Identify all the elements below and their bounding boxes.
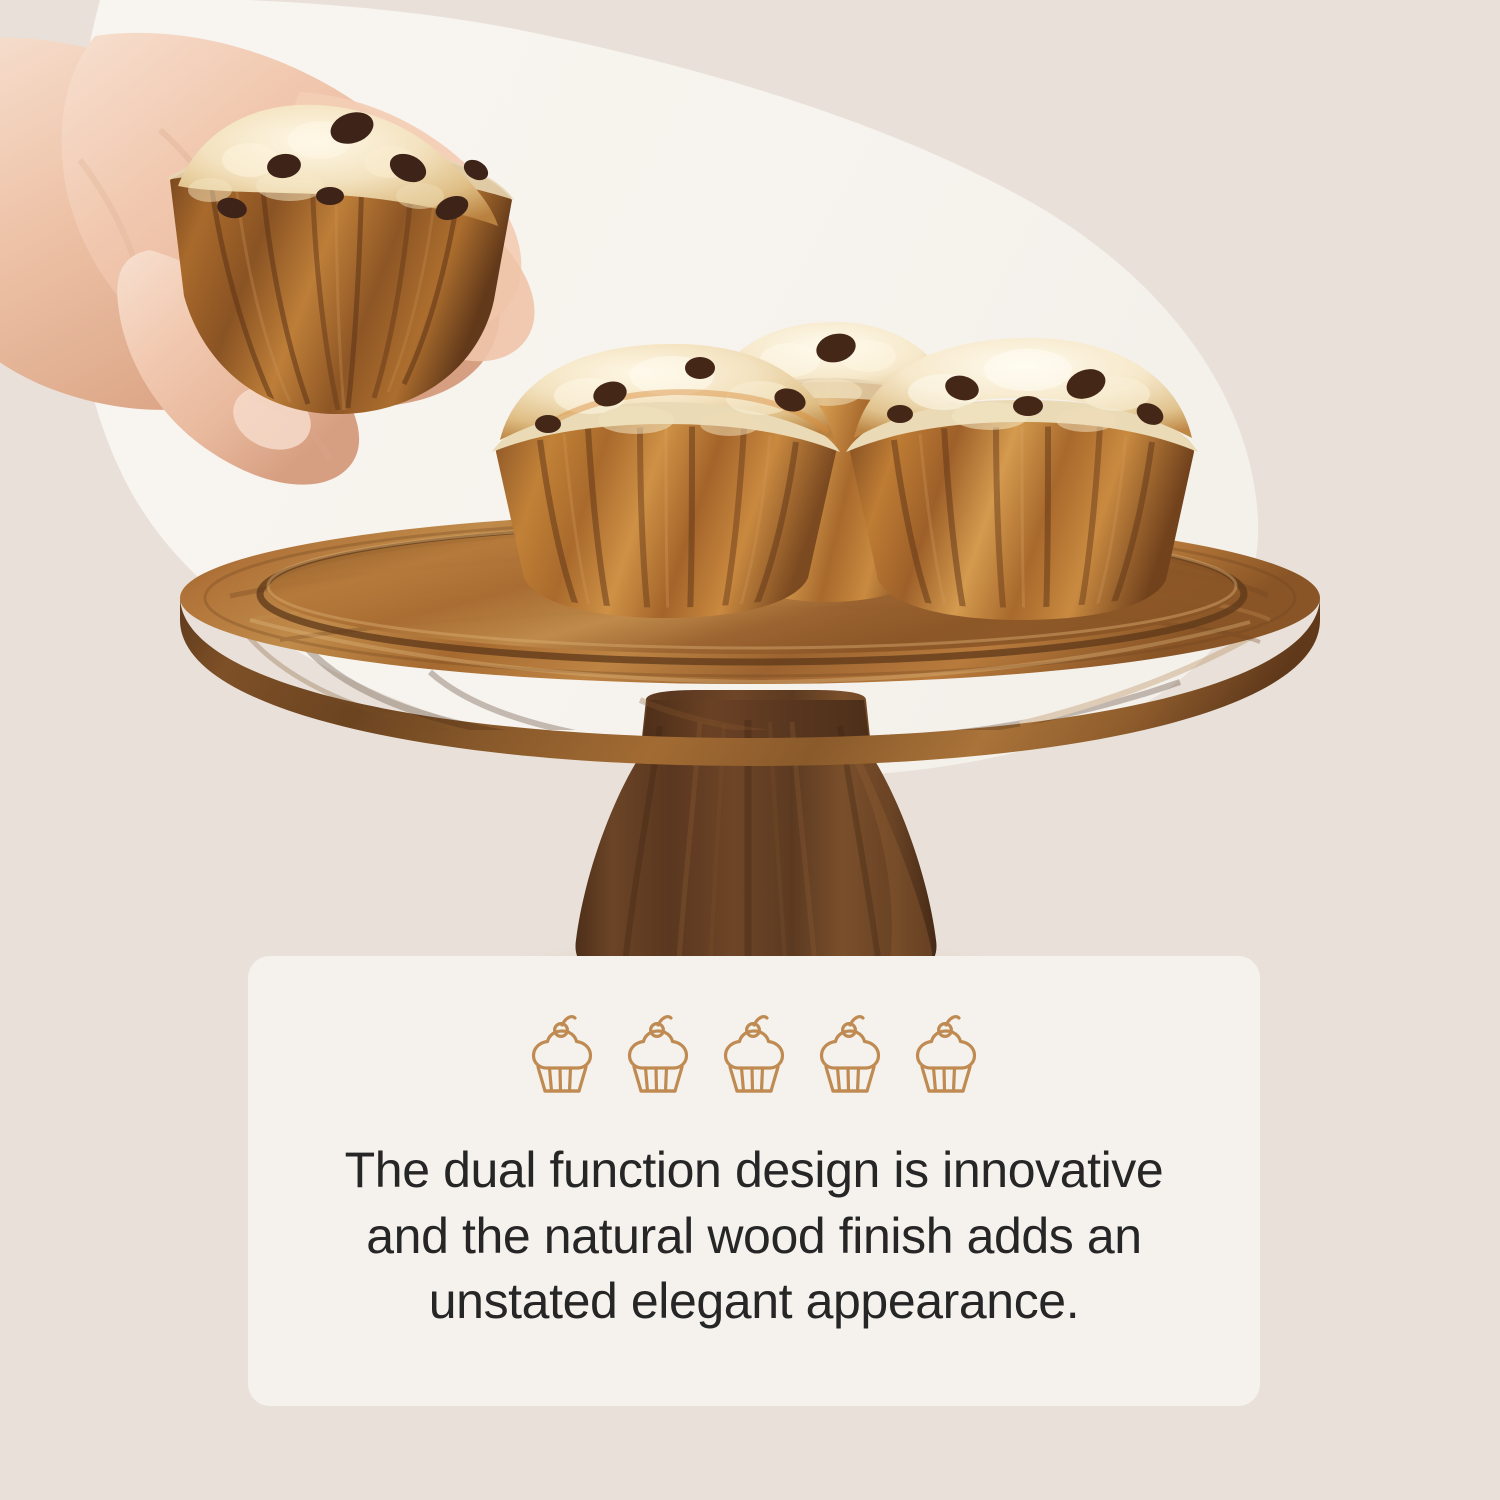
cupcake-icon[interactable] <box>909 1012 983 1098</box>
cupcake-icon[interactable] <box>525 1012 599 1098</box>
muffin-right <box>846 338 1198 620</box>
review-quote-text: The dual function design is innovative a… <box>290 1138 1218 1335</box>
cupcake-icon[interactable] <box>717 1012 791 1098</box>
cupcake-icon[interactable] <box>621 1012 695 1098</box>
pedestal <box>576 690 937 988</box>
product-lifestyle-image: The dual function design is innovative a… <box>0 0 1500 1500</box>
rating-cupcakes <box>248 1012 1260 1098</box>
review-card: The dual function design is innovative a… <box>248 956 1260 1406</box>
muffin-left <box>492 344 840 618</box>
cupcake-icon[interactable] <box>813 1012 887 1098</box>
